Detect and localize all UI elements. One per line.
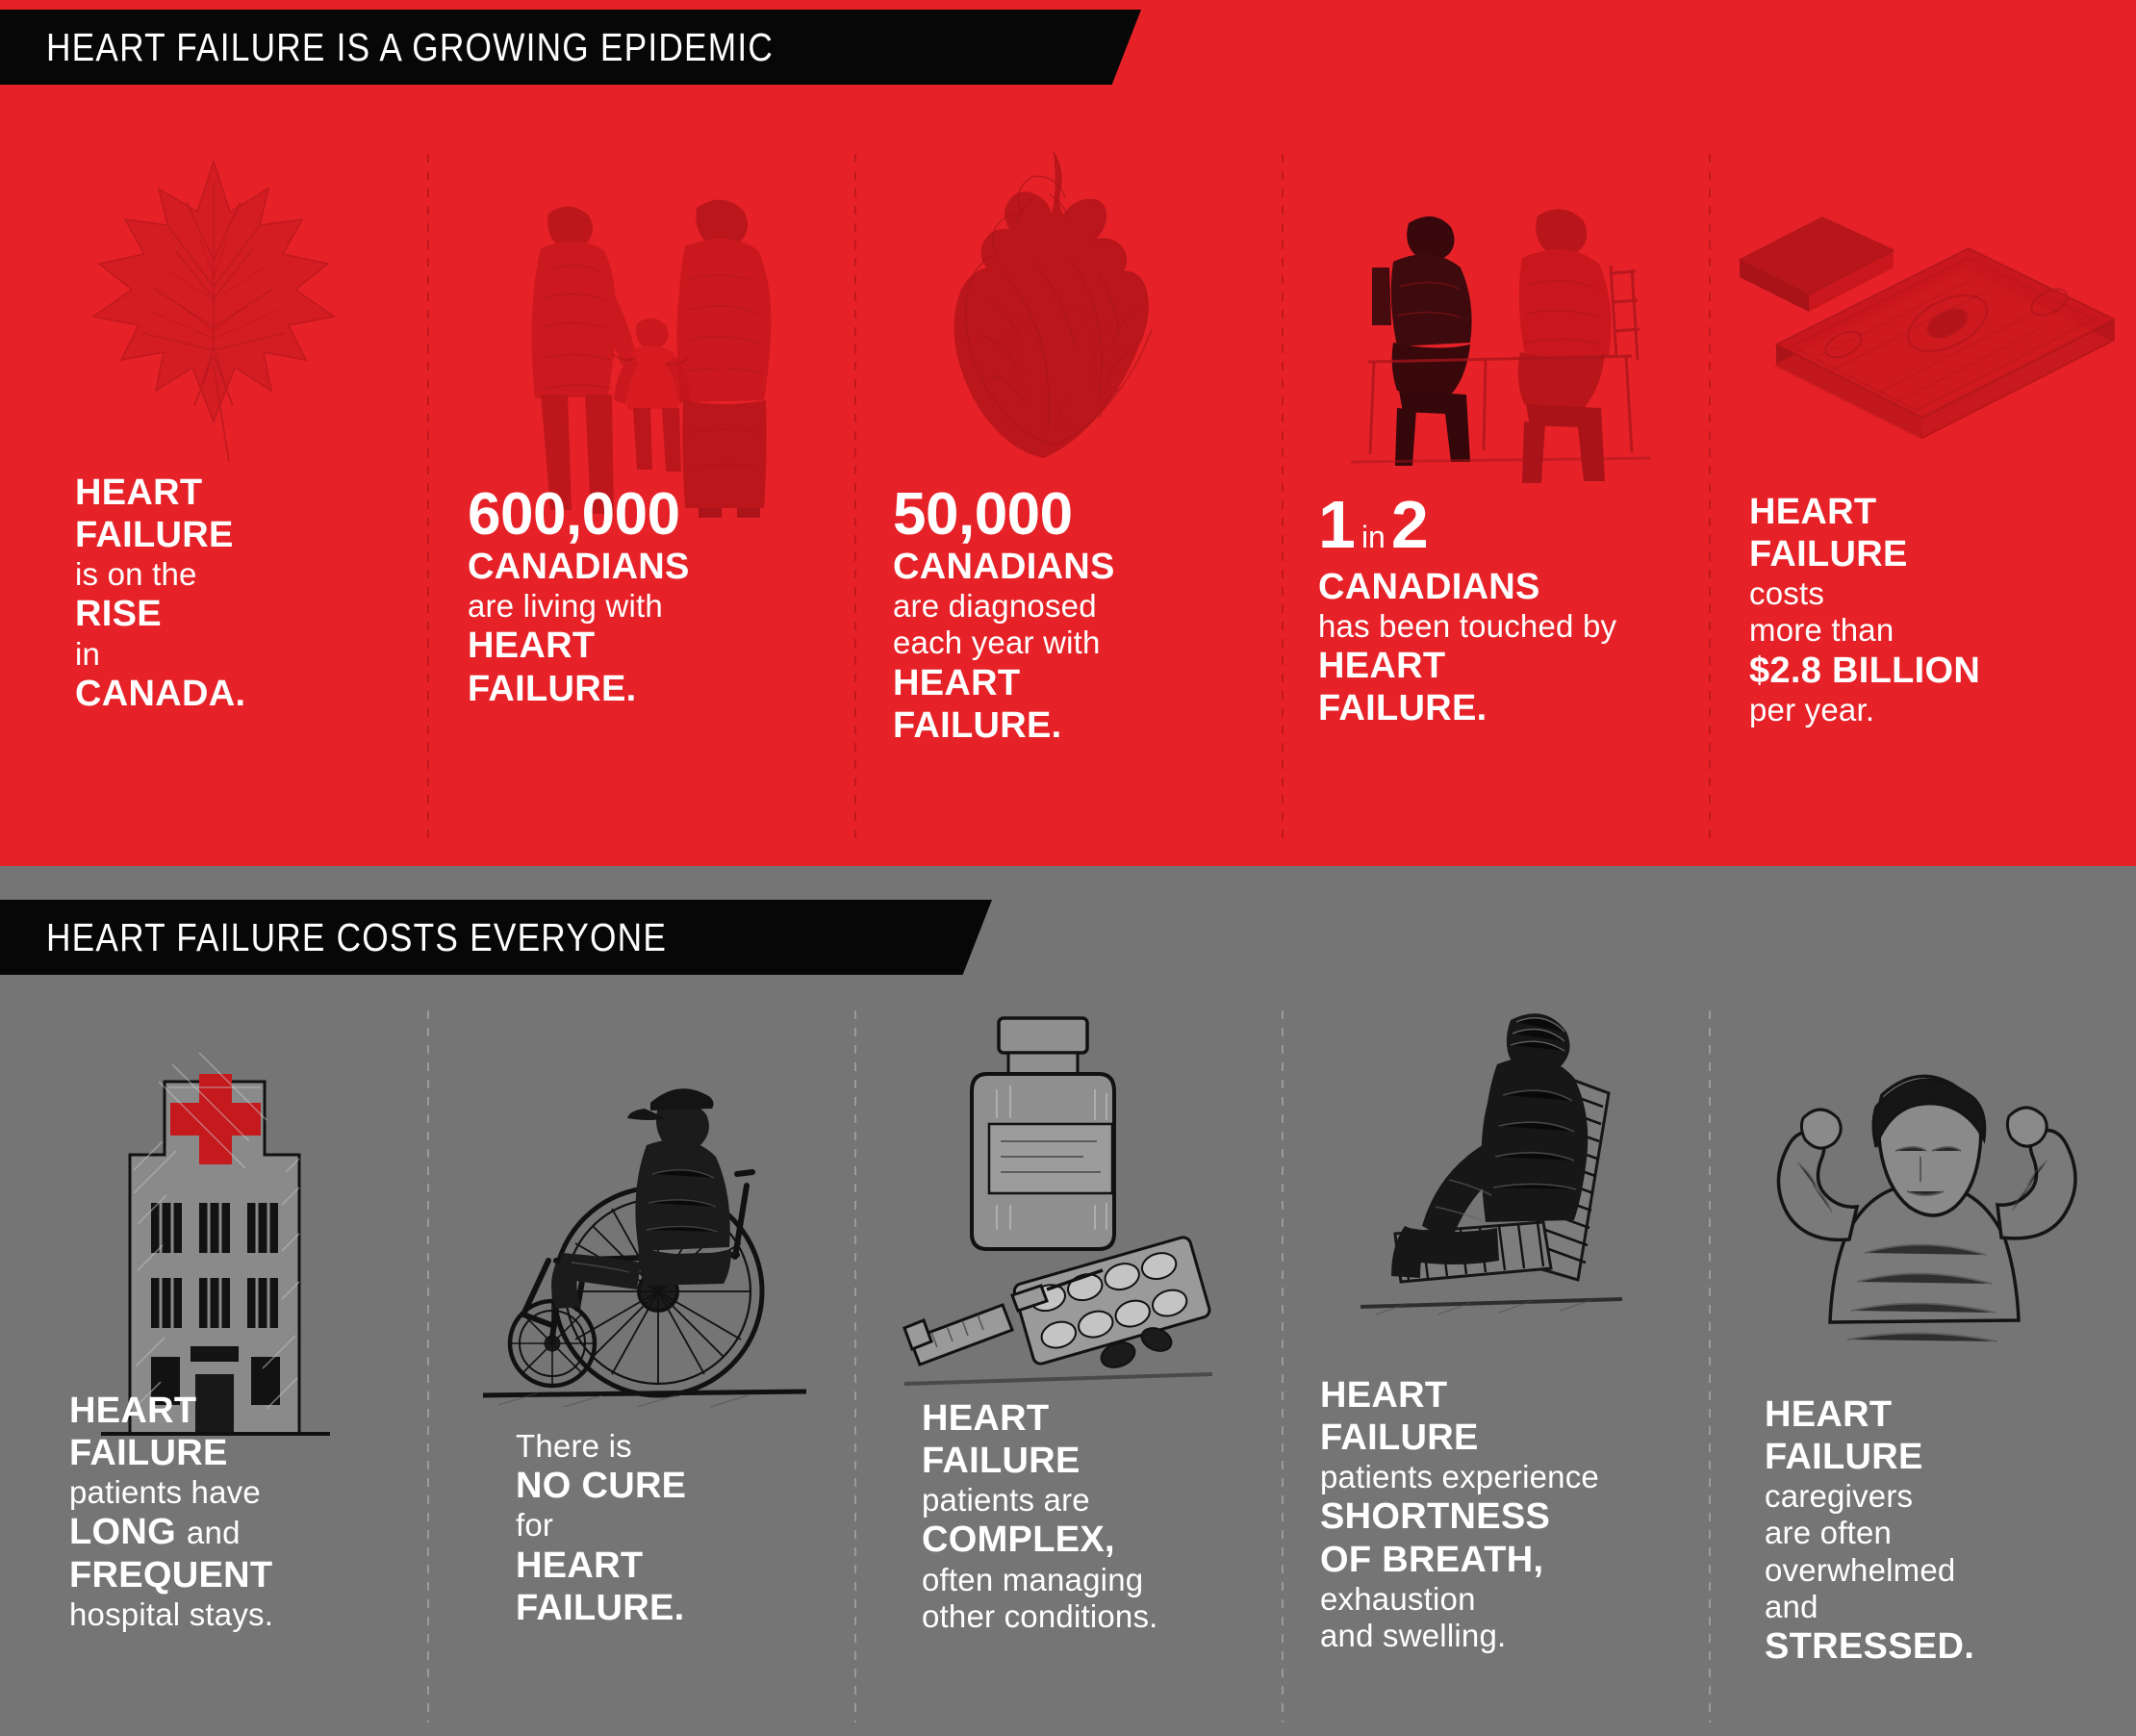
panel-600000-canadians-copy: 600,000 CANADIANS are living with HEART …: [468, 483, 833, 710]
copy-line: and: [1765, 1589, 2111, 1625]
panel-caregivers-stressed-copy: HEART FAILURE caregivers are often overw…: [1765, 1393, 2111, 1668]
copy-line: CANADA.: [75, 673, 364, 715]
panel-caregivers-stressed: HEART FAILURE caregivers are often overw…: [1709, 1001, 2136, 1732]
ratio-numerator: 1: [1318, 487, 1356, 562]
copy-line: FAILURE.: [468, 668, 833, 710]
copy-line: in: [75, 636, 364, 673]
banner-angled-edge: [1097, 10, 1141, 85]
copy-line: per year.: [1749, 692, 2134, 728]
copy-line: HEART: [468, 625, 833, 667]
copy-line: HEART: [1318, 645, 1722, 687]
stressed-caregiver-icon: [1709, 1010, 2136, 1386]
copy-line: SHORTNESS: [1320, 1495, 1724, 1538]
banner-costs-everyone-label: HEART FAILURE COSTS EVERYONE: [46, 915, 667, 960]
copy-line: are often: [1765, 1515, 2111, 1551]
elderly-patient-resting-icon: [1282, 982, 1709, 1366]
copy-line: FAILURE: [69, 1432, 396, 1474]
panel-no-cure: There is NO CURE for HEART FAILURE.: [427, 1001, 854, 1732]
copy-line: are diagnosed: [893, 588, 1259, 625]
copy-line: costs: [1749, 575, 2134, 612]
copy-line: FAILURE: [1749, 533, 2134, 575]
family-walking-icon: [427, 154, 854, 520]
copy-line: STRESSED.: [1765, 1625, 2111, 1668]
copy-line: COMPLEX,: [922, 1519, 1268, 1561]
panel-shortness-of-breath: HEART FAILURE patients experience SHORTN…: [1282, 1001, 1709, 1732]
copy-line: CANADIANS: [893, 546, 1259, 588]
copy-line: RISE: [75, 593, 364, 635]
copy-line: FAILURE: [1765, 1436, 2111, 1478]
copy-line: overwhelmed: [1765, 1552, 2111, 1589]
copy-line: HEART: [75, 472, 364, 514]
panel-complex-patients: HEART FAILURE patients are COMPLEX, ofte…: [854, 1001, 1282, 1732]
copy-line: are living with: [468, 588, 833, 625]
copy-line: FREQUENT: [69, 1554, 396, 1596]
panel-50000-diagnosed-copy: 50,000 CANADIANS are diagnosed each year…: [893, 483, 1259, 747]
copy-line: FAILURE: [1320, 1417, 1724, 1459]
copy-line: There is: [516, 1428, 843, 1465]
section-growing-epidemic: HEART FAILURE IS A GROWING EPIDEMIC: [0, 0, 2136, 866]
anatomical-heart-icon: [854, 144, 1282, 481]
copy-line: patients experience: [1320, 1459, 1724, 1495]
copy-stat: $2.8 BILLION: [1749, 650, 2134, 692]
money-stack-icon: [1709, 202, 2136, 481]
copy-line: has been touched by: [1318, 608, 1722, 645]
copy-line: OF BREATH,: [1320, 1539, 1724, 1581]
copy-line: HEART: [1320, 1374, 1724, 1417]
copy-line: HEART: [1749, 491, 2134, 533]
copy-line: FAILURE.: [1318, 687, 1722, 729]
copy-line: and swelling.: [1320, 1618, 1724, 1654]
infographic-page: HEART FAILURE IS A GROWING EPIDEMIC: [0, 0, 2136, 1736]
copy-line: CANADIANS: [468, 546, 833, 588]
panel-cost-2-8-billion-copy: HEART FAILURE costs more than $2.8 BILLI…: [1749, 491, 2134, 728]
copy-line: each year with: [893, 625, 1259, 661]
medication-bottle-pills-icon: [854, 1001, 1282, 1405]
copy-line: is on the: [75, 556, 364, 593]
panel-no-cure-copy: There is NO CURE for HEART FAILURE.: [516, 1428, 843, 1629]
copy-line: CANADIANS: [1318, 566, 1722, 608]
banner-growing-epidemic-label: HEART FAILURE IS A GROWING EPIDEMIC: [46, 25, 774, 70]
copy-stat: 600,000: [468, 483, 833, 546]
copy-line: HEART: [69, 1390, 396, 1432]
copy-line: NO CURE: [516, 1465, 843, 1507]
copy-emphasis: LONG: [69, 1512, 187, 1552]
copy-line: FAILURE.: [516, 1587, 843, 1629]
couple-seated-icon: [1282, 173, 1709, 491]
panel-cost-2-8-billion: HEART FAILURE costs more than $2.8 BILLI…: [1709, 144, 2136, 856]
copy-line: FAILURE: [922, 1440, 1268, 1482]
ratio-denominator: 2: [1391, 487, 1429, 562]
banner-costs-everyone: HEART FAILURE COSTS EVERYONE: [0, 900, 948, 975]
banner-growing-epidemic: HEART FAILURE IS A GROWING EPIDEMIC: [0, 10, 1097, 85]
copy-line: for: [516, 1507, 843, 1544]
copy-line: HEART: [1765, 1393, 2111, 1436]
panel-50000-diagnosed: 50,000 CANADIANS are diagnosed each year…: [854, 144, 1282, 856]
copy-line: patients have: [69, 1474, 396, 1511]
panel-long-frequent-stays-copy: HEART FAILURE patients have LONG and FRE…: [69, 1390, 396, 1633]
maple-leaf-icon: [0, 144, 427, 462]
wheelchair-patient-icon: [427, 1020, 854, 1424]
panel-600000-canadians: 600,000 CANADIANS are living with HEART …: [427, 144, 854, 856]
panel-shortness-of-breath-copy: HEART FAILURE patients experience SHORTN…: [1320, 1374, 1724, 1654]
copy-line: FAILURE.: [893, 704, 1259, 747]
copy-line: often managing: [922, 1562, 1268, 1598]
ratio-one-in-two: 1in2: [1318, 491, 1722, 558]
copy-line: patients are: [922, 1482, 1268, 1519]
top-panel-row: HEART FAILURE is on the RISE in CANADA.: [0, 144, 2136, 856]
copy-stat: 50,000: [893, 483, 1259, 546]
copy-line: hospital stays.: [69, 1596, 396, 1633]
panel-complex-patients-copy: HEART FAILURE patients are COMPLEX, ofte…: [922, 1397, 1268, 1635]
panel-one-in-two: 1in2 CANADIANS has been touched by HEART…: [1282, 144, 1709, 856]
panel-rise-in-canada: HEART FAILURE is on the RISE in CANADA.: [0, 144, 427, 856]
copy-line: HEART: [922, 1397, 1268, 1440]
panel-one-in-two-copy: 1in2 CANADIANS has been touched by HEART…: [1318, 491, 1722, 730]
copy-line: caregivers: [1765, 1478, 2111, 1515]
ratio-connector: in: [1356, 520, 1391, 554]
copy-line: LONG and: [69, 1511, 396, 1553]
copy-line: HEART: [516, 1545, 843, 1587]
bottom-panel-row: HEART FAILURE patients have LONG and FRE…: [0, 1001, 2136, 1732]
copy-line: exhaustion: [1320, 1581, 1724, 1618]
hospital-building-icon: [0, 1039, 427, 1443]
copy-line: other conditions.: [922, 1598, 1268, 1635]
panel-rise-in-canada-copy: HEART FAILURE is on the RISE in CANADA.: [75, 472, 364, 715]
panel-long-frequent-stays: HEART FAILURE patients have LONG and FRE…: [0, 1001, 427, 1732]
copy-line: more than: [1749, 612, 2134, 649]
copy-line: HEART: [893, 662, 1259, 704]
copy-connector: and: [187, 1515, 241, 1550]
copy-line: FAILURE: [75, 514, 364, 556]
